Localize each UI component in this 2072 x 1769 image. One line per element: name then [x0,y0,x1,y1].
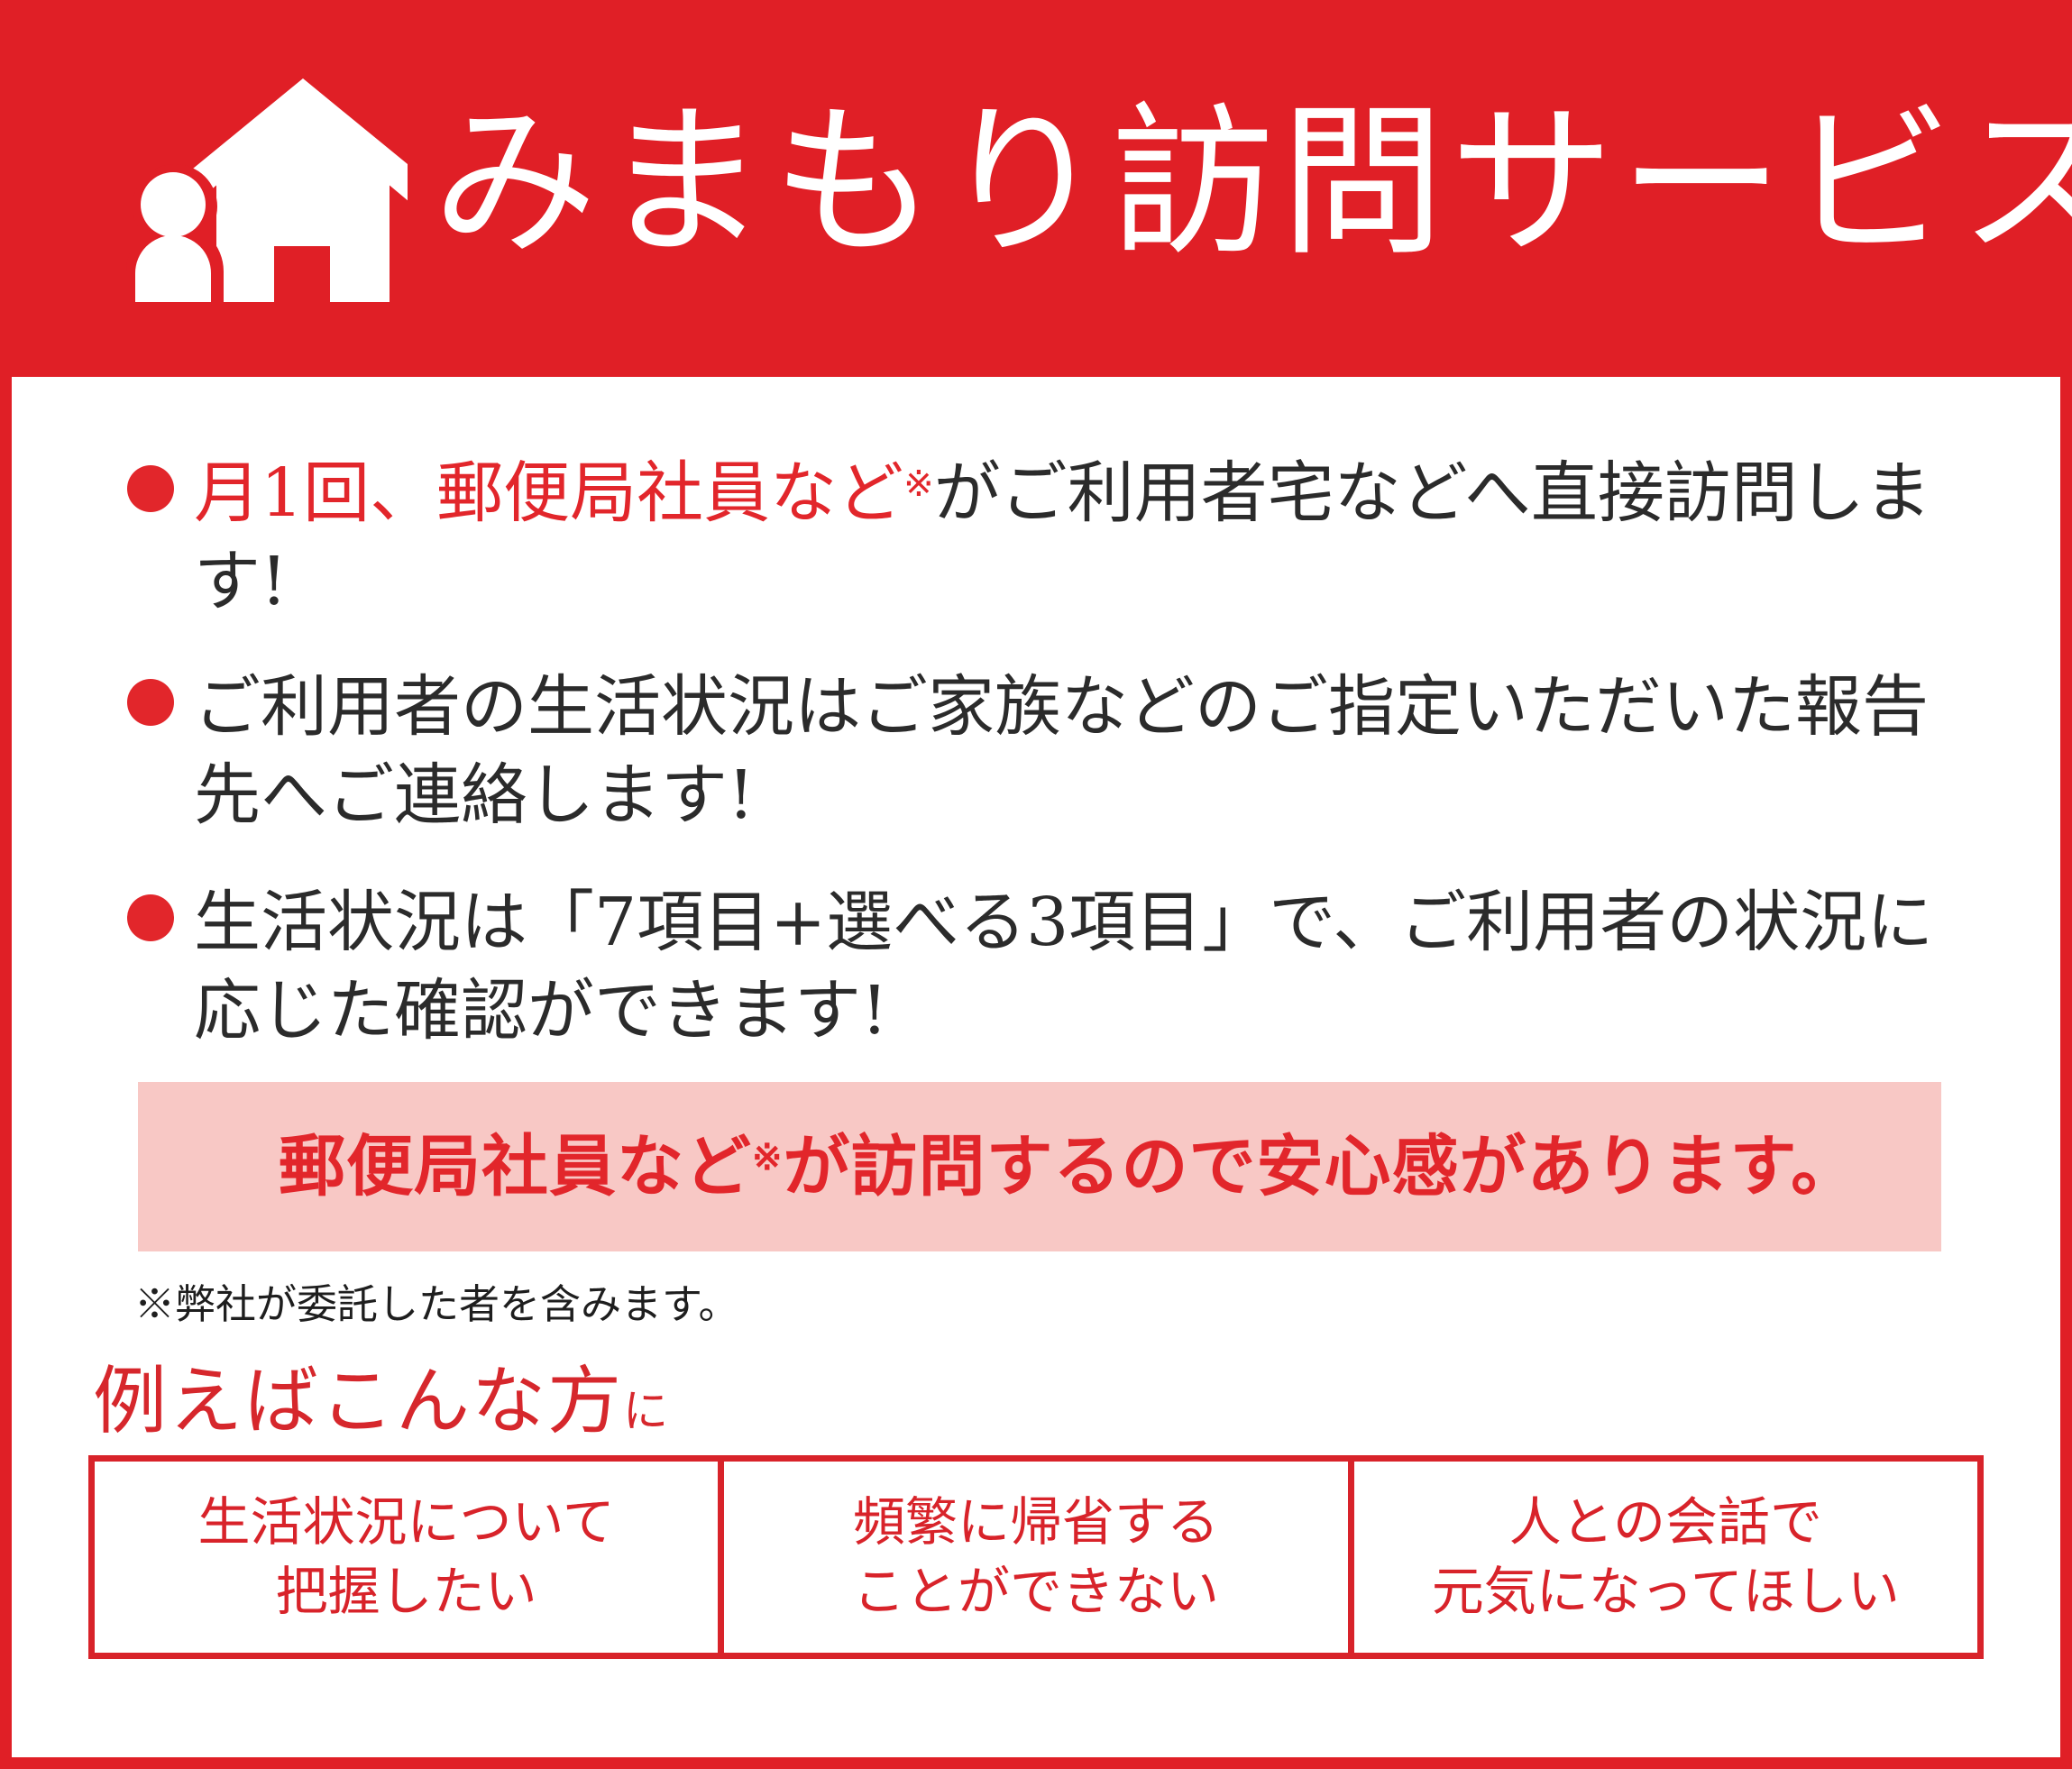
reassurance-text-before: 郵便局社員など [279,1128,752,1205]
example-heading-suffix: に [623,1385,668,1437]
reassurance-text: 郵便局社員など※が訪問するので安心感があります。 [279,1133,1858,1200]
poster-root: みまもり訪問サービス 月1回、郵便局社員など※がご利用者宅などへ直接訪問します!… [0,0,2072,1769]
bullet-dot-icon [127,679,174,726]
bullet-dot-icon [127,894,174,941]
example-section-heading: 例えばこんな方に [93,1365,2060,1439]
example-case-1-line1: 生活状況について [198,1488,615,1557]
example-case-3-line2: 元気になってほしい [1432,1557,1900,1627]
reassurance-text-after: が訪問するので安心感があります。 [784,1128,1859,1205]
bullet-1-red-text: 月1回、郵便局社員など [194,454,903,532]
note-reference-mark-icon: ※ [903,463,934,505]
example-case-2-line2: ことができない [853,1557,1219,1627]
example-case-1: 生活状況について 把握したい [95,1462,718,1653]
content-card: 月1回、郵便局社員など※がご利用者宅などへ直接訪問します! ご利用者の生活状況は… [12,377,2060,1757]
note-reference-mark-icon: ※ [752,1136,784,1178]
example-heading-main: 例えばこんな方 [93,1359,623,1444]
bullet-2-text: ご利用者の生活状況はご家族などのご指定いただいた報告先へご連絡します! [194,668,1929,834]
example-cases-table: 生活状況について 把握したい 頻繁に帰省する ことができない 人との会話で 元気… [88,1455,1984,1659]
example-case-3: 人との会話で 元気になってほしい [1348,1462,1977,1653]
header-band: みまもり訪問サービス [0,0,2072,377]
service-title: みまもり訪問サービス [433,100,2072,264]
feature-bullet-3: 生活状況は「7項目+選べる3項目」で、ご利用者の状況に応じた確認ができます! [127,878,1981,1056]
house-with-person-icon [119,69,408,313]
example-case-2-line1: 頻繁に帰省する [853,1488,1219,1557]
content-frame: 月1回、郵便局社員など※がご利用者宅などへ直接訪問します! ご利用者の生活状況は… [0,377,2072,1769]
bullet-dot-icon [127,465,174,512]
example-case-1-line2: 把握したい [276,1557,537,1627]
feature-bullet-2: ご利用者の生活状況はご家族などのご指定いただいた報告先へご連絡します! [127,663,1981,840]
example-case-3-line1: 人との会話で [1509,1488,1822,1557]
example-case-2: 頻繁に帰省する ことができない [718,1462,1347,1653]
bullet-3-text: 生活状況は「7項目+選べる3項目」で、ご利用者の状況に応じた確認ができます! [194,884,1933,1049]
feature-bullet-list: 月1回、郵便局社員など※がご利用者宅などへ直接訪問します! ご利用者の生活状況は… [12,449,2060,1055]
feature-bullet-1: 月1回、郵便局社員など※がご利用者宅などへ直接訪問します! [127,449,1981,627]
reassurance-highlight-box: 郵便局社員など※が訪問するので安心感があります。 [138,1082,1941,1251]
footnote-text: ※弊社が委託した者を含みます。 [134,1280,2060,1329]
